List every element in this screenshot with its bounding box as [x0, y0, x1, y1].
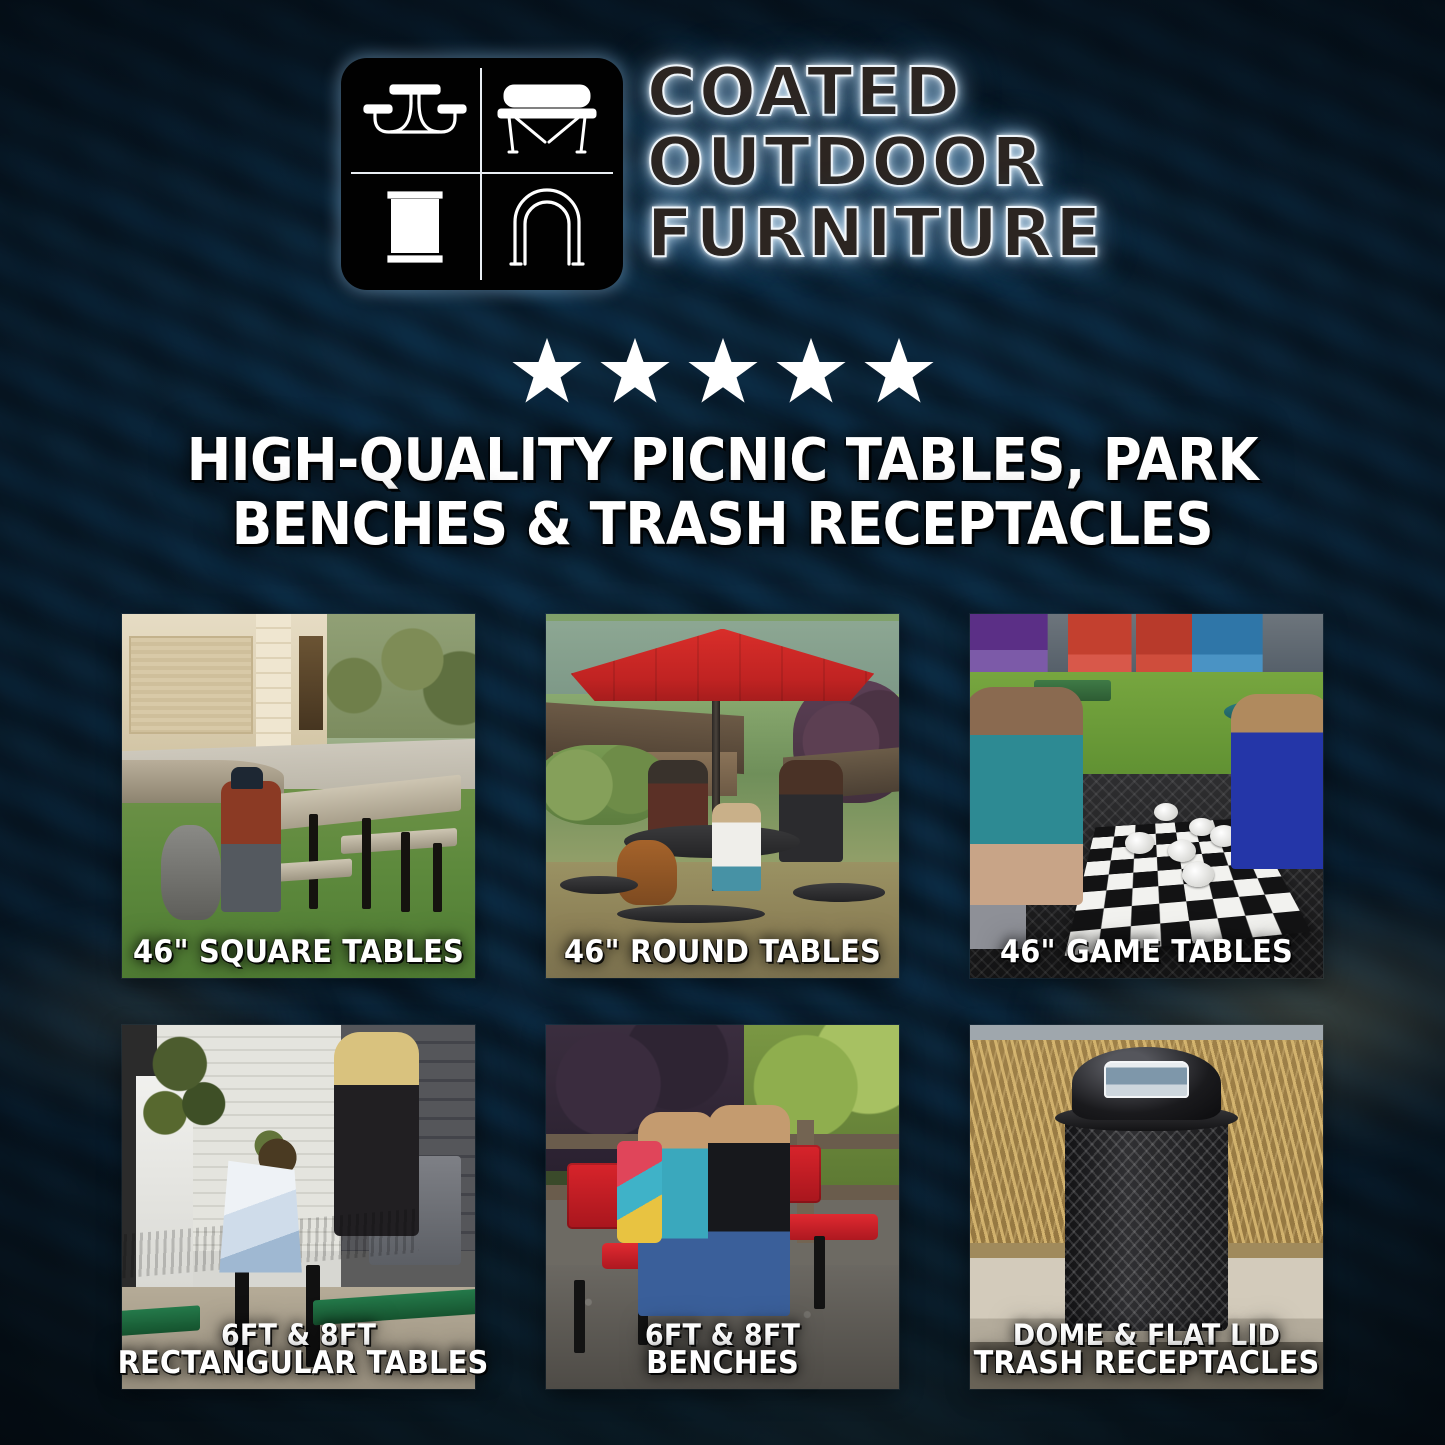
- product-tile-square-tables[interactable]: 46" SQUARE TABLES: [122, 614, 475, 978]
- brand-line-1: COATED: [647, 60, 1104, 124]
- product-tile-rectangular-tables[interactable]: 6FT & 8FT RECTANGULAR TABLES: [122, 1025, 475, 1389]
- product-photo-rectangular-tables: [122, 1025, 475, 1389]
- star-icon: [775, 336, 847, 406]
- product-tile-game-tables[interactable]: 46" GAME TABLES: [970, 614, 1323, 978]
- picnic-table-icon: [351, 68, 482, 174]
- arch-icon: [482, 174, 613, 280]
- star-rating: [0, 336, 1445, 406]
- product-tile-trash-receptacles[interactable]: DOME & FLAT LID TRASH RECEPTACLES: [970, 1025, 1323, 1389]
- trash-receptacle-icon: [351, 174, 482, 280]
- product-photo-trash-receptacles: [970, 1025, 1323, 1389]
- product-grid: 46" SQUARE TABLES: [122, 614, 1323, 1389]
- brand-name: COATED OUTDOOR FURNITURE: [647, 58, 1104, 265]
- product-tile-benches[interactable]: 6FT & 8FT BENCHES: [546, 1025, 899, 1389]
- brand-header: COATED OUTDOOR FURNITURE: [0, 58, 1445, 290]
- star-icon: [687, 336, 759, 406]
- product-photo-round-tables: [546, 614, 899, 978]
- headline-line-2: BENCHES & TRASH RECEPTACLES: [72, 494, 1373, 554]
- product-photo-square-tables: [122, 614, 475, 978]
- bench-icon: [482, 68, 613, 174]
- promotional-poster: COATED OUTDOOR FURNITURE HIGH-QUALITY PI…: [0, 0, 1445, 1445]
- star-icon: [863, 336, 935, 406]
- product-tile-round-tables[interactable]: 46" ROUND TABLES: [546, 614, 899, 978]
- brand-line-3: FURNITURE: [647, 201, 1104, 265]
- product-photo-game-tables: [970, 614, 1323, 978]
- brand-line-2: OUTDOOR: [647, 130, 1104, 194]
- star-icon: [599, 336, 671, 406]
- page-title: HIGH-QUALITY PICNIC TABLES, PARK BENCHES…: [72, 430, 1373, 554]
- star-icon: [511, 336, 583, 406]
- product-photo-benches: [546, 1025, 899, 1389]
- logo-mark: [341, 58, 623, 290]
- headline-line-1: HIGH-QUALITY PICNIC TABLES, PARK: [72, 430, 1373, 490]
